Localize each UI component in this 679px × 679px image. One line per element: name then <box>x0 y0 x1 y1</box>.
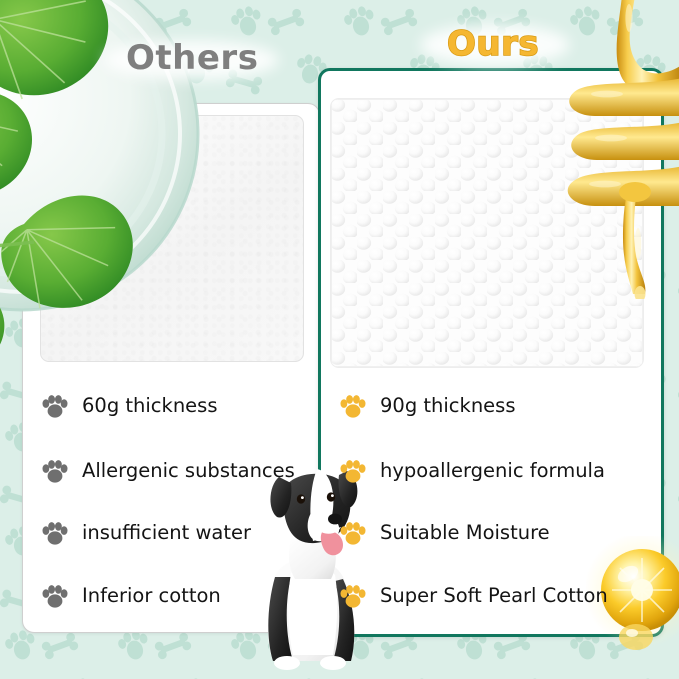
highlight-bar <box>371 396 533 418</box>
highlight-bar <box>73 396 235 418</box>
ours-title: Ours <box>447 24 539 64</box>
others-feature-row-4: Inferior cotton <box>42 580 228 614</box>
highlight-bar <box>73 523 268 545</box>
ours-feature-label: 90g thickness <box>373 394 523 419</box>
paw-icon <box>42 522 68 546</box>
others-feature-label: Inferior cotton <box>75 584 228 609</box>
paw-icon <box>340 395 366 419</box>
others-title: Others <box>126 38 258 78</box>
paw-icon <box>340 460 366 484</box>
highlight-bar <box>73 586 238 608</box>
highlight-bar <box>73 461 312 483</box>
paw-icon <box>42 395 68 419</box>
oil-dropper-stream-image <box>565 0 679 299</box>
highlight-bar <box>371 523 567 545</box>
paw-icon <box>340 522 366 546</box>
ours-feature-label: Super Soft Pearl Cotton <box>373 584 615 609</box>
others-feature-row-3: insufficient water <box>42 517 258 551</box>
paw-icon <box>42 585 68 609</box>
ours-feature-row-4: Super Soft Pearl Cotton <box>340 580 615 614</box>
ours-feature-label: hypoallergenic formula <box>373 459 612 484</box>
highlight-bar <box>371 586 625 608</box>
others-feature-row-2: Allergenic substances <box>42 455 302 489</box>
others-feature-label: Allergenic substances <box>75 459 302 484</box>
ours-feature-row-2: hypoallergenic formula <box>340 455 612 489</box>
ours-feature-row-1: 90g thickness <box>340 390 523 424</box>
paw-icon <box>340 585 366 609</box>
others-feature-label: 60g thickness <box>75 394 225 419</box>
paw-icon <box>42 460 68 484</box>
ours-feature-row-3: Suitable Moisture <box>340 517 557 551</box>
others-feature-row-1: 60g thickness <box>42 390 225 424</box>
others-feature-label: insufficient water <box>75 521 258 546</box>
ours-feature-label: Suitable Moisture <box>373 521 557 546</box>
infographic-canvas: Others Ours 60g thickness <box>0 0 679 679</box>
highlight-bar <box>371 461 622 483</box>
